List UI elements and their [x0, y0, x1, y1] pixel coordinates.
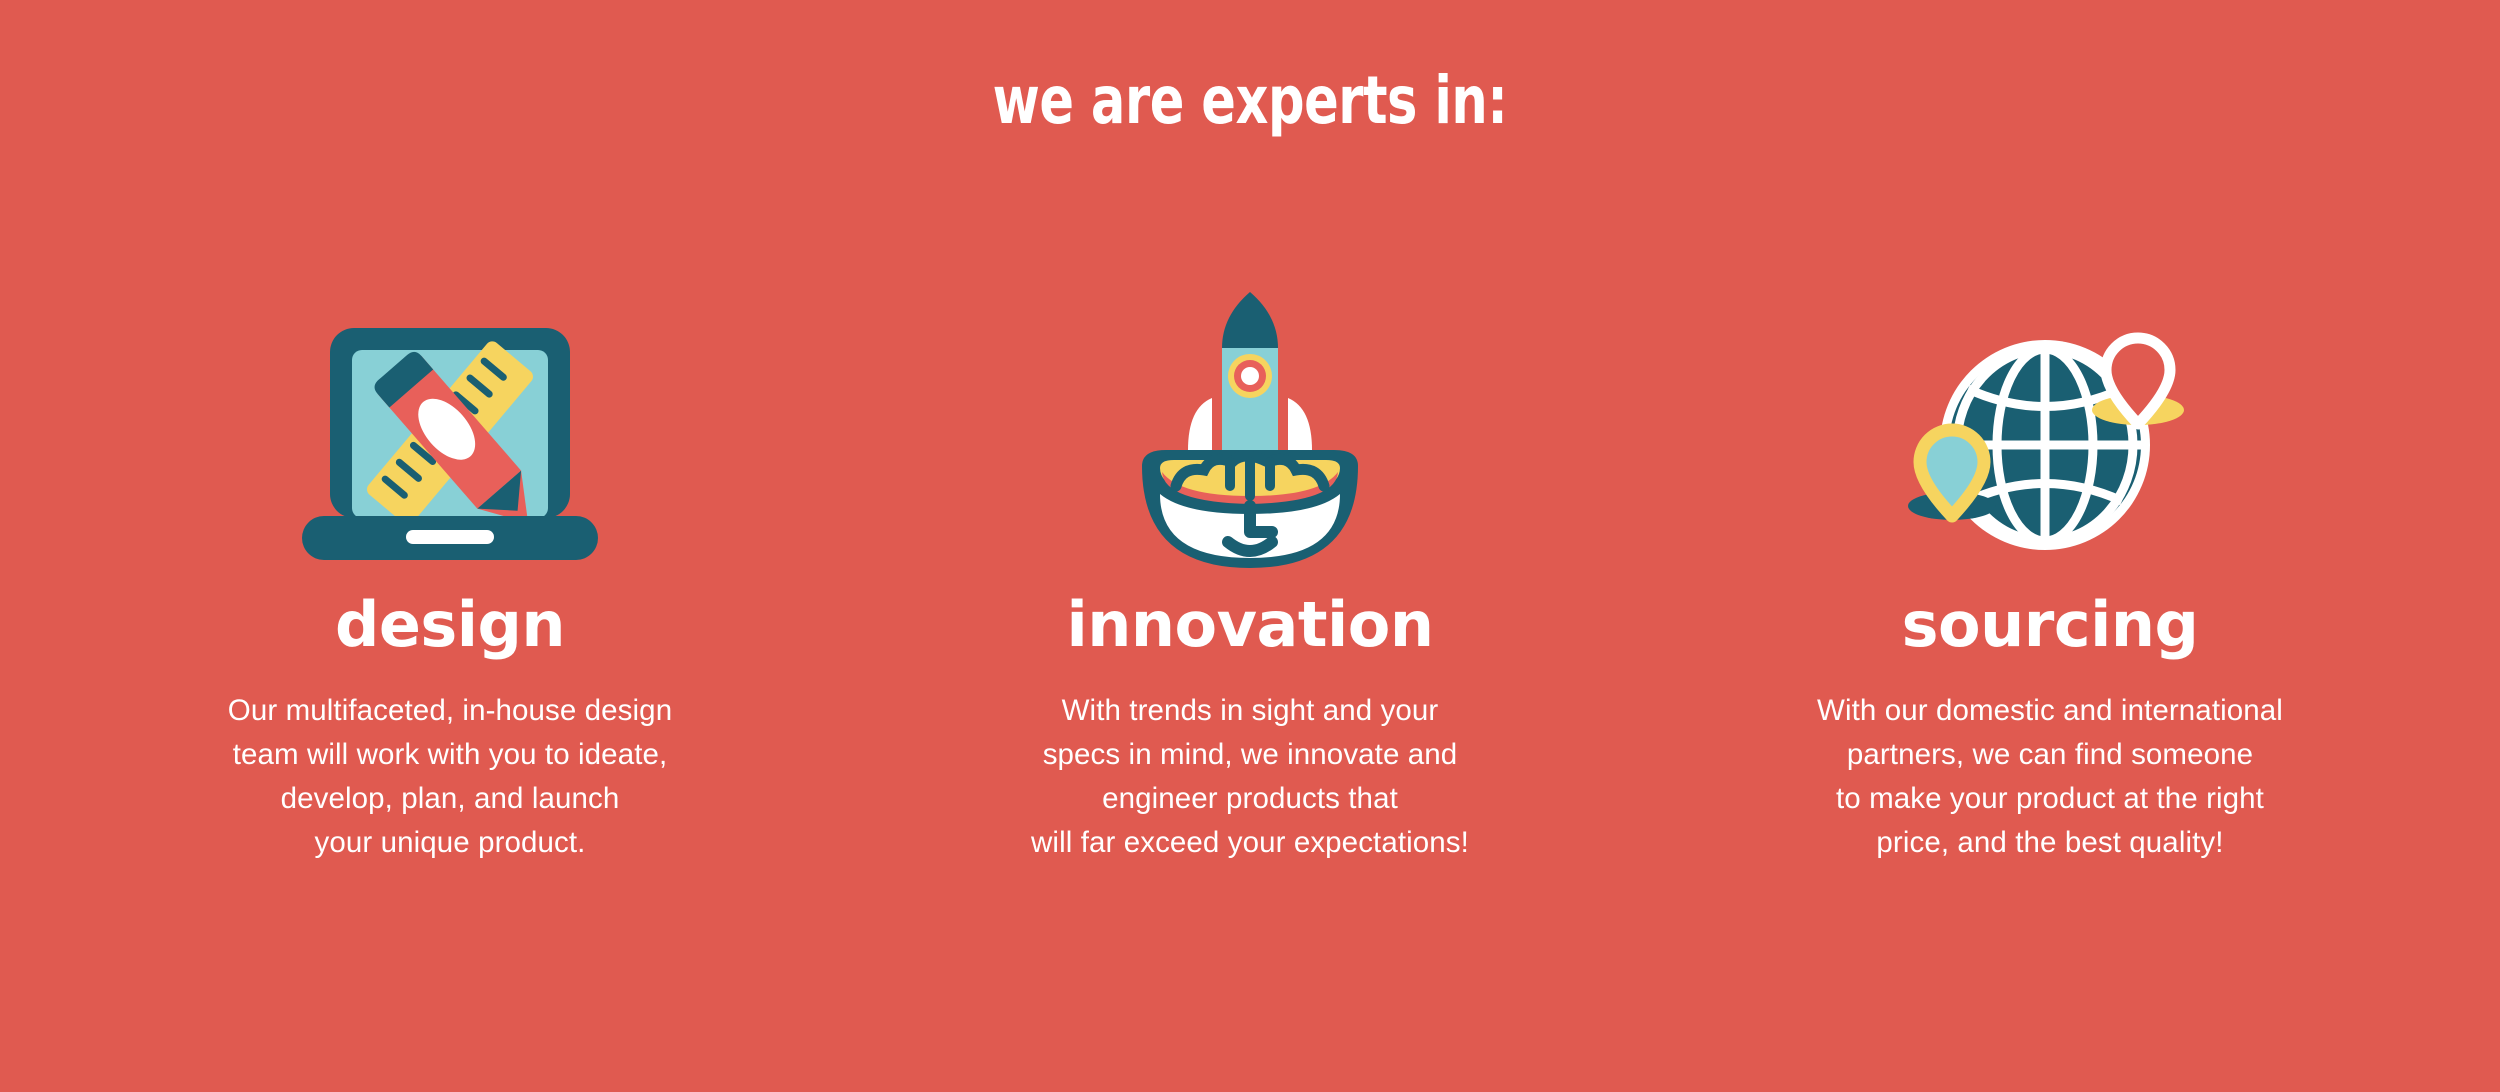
experts-section: we are experts in:: [0, 0, 2500, 1092]
design-icon-slot: [300, 250, 600, 570]
expertise-columns: design Our multifaceted, in-house design…: [0, 250, 2500, 865]
expertise-card-innovation: innovation With trends in sight and your…: [870, 250, 1630, 865]
expertise-title-design: design: [335, 592, 565, 657]
expertise-title-innovation: innovation: [1067, 592, 1434, 657]
expertise-title-sourcing: sourcing: [1902, 592, 2199, 657]
expertise-body-design: Our multifaceted, in-house design team w…: [228, 689, 672, 865]
globe-pins-sourcing-icon: [1900, 320, 2200, 570]
expertise-body-sourcing: With our domestic and international part…: [1817, 689, 2283, 865]
expertise-body-innovation: With trends in sight and your specs in m…: [1031, 689, 1469, 865]
page-title: we are experts in:: [175, 68, 2325, 134]
innovation-icon-slot: [1120, 250, 1380, 570]
rocket-head-innovation-icon: [1120, 290, 1380, 570]
sourcing-icon-slot: [1900, 250, 2200, 570]
laptop-design-icon: [300, 320, 600, 570]
expertise-card-sourcing: sourcing With our domestic and internati…: [1670, 250, 2430, 865]
expertise-card-design: design Our multifaceted, in-house design…: [70, 250, 830, 865]
